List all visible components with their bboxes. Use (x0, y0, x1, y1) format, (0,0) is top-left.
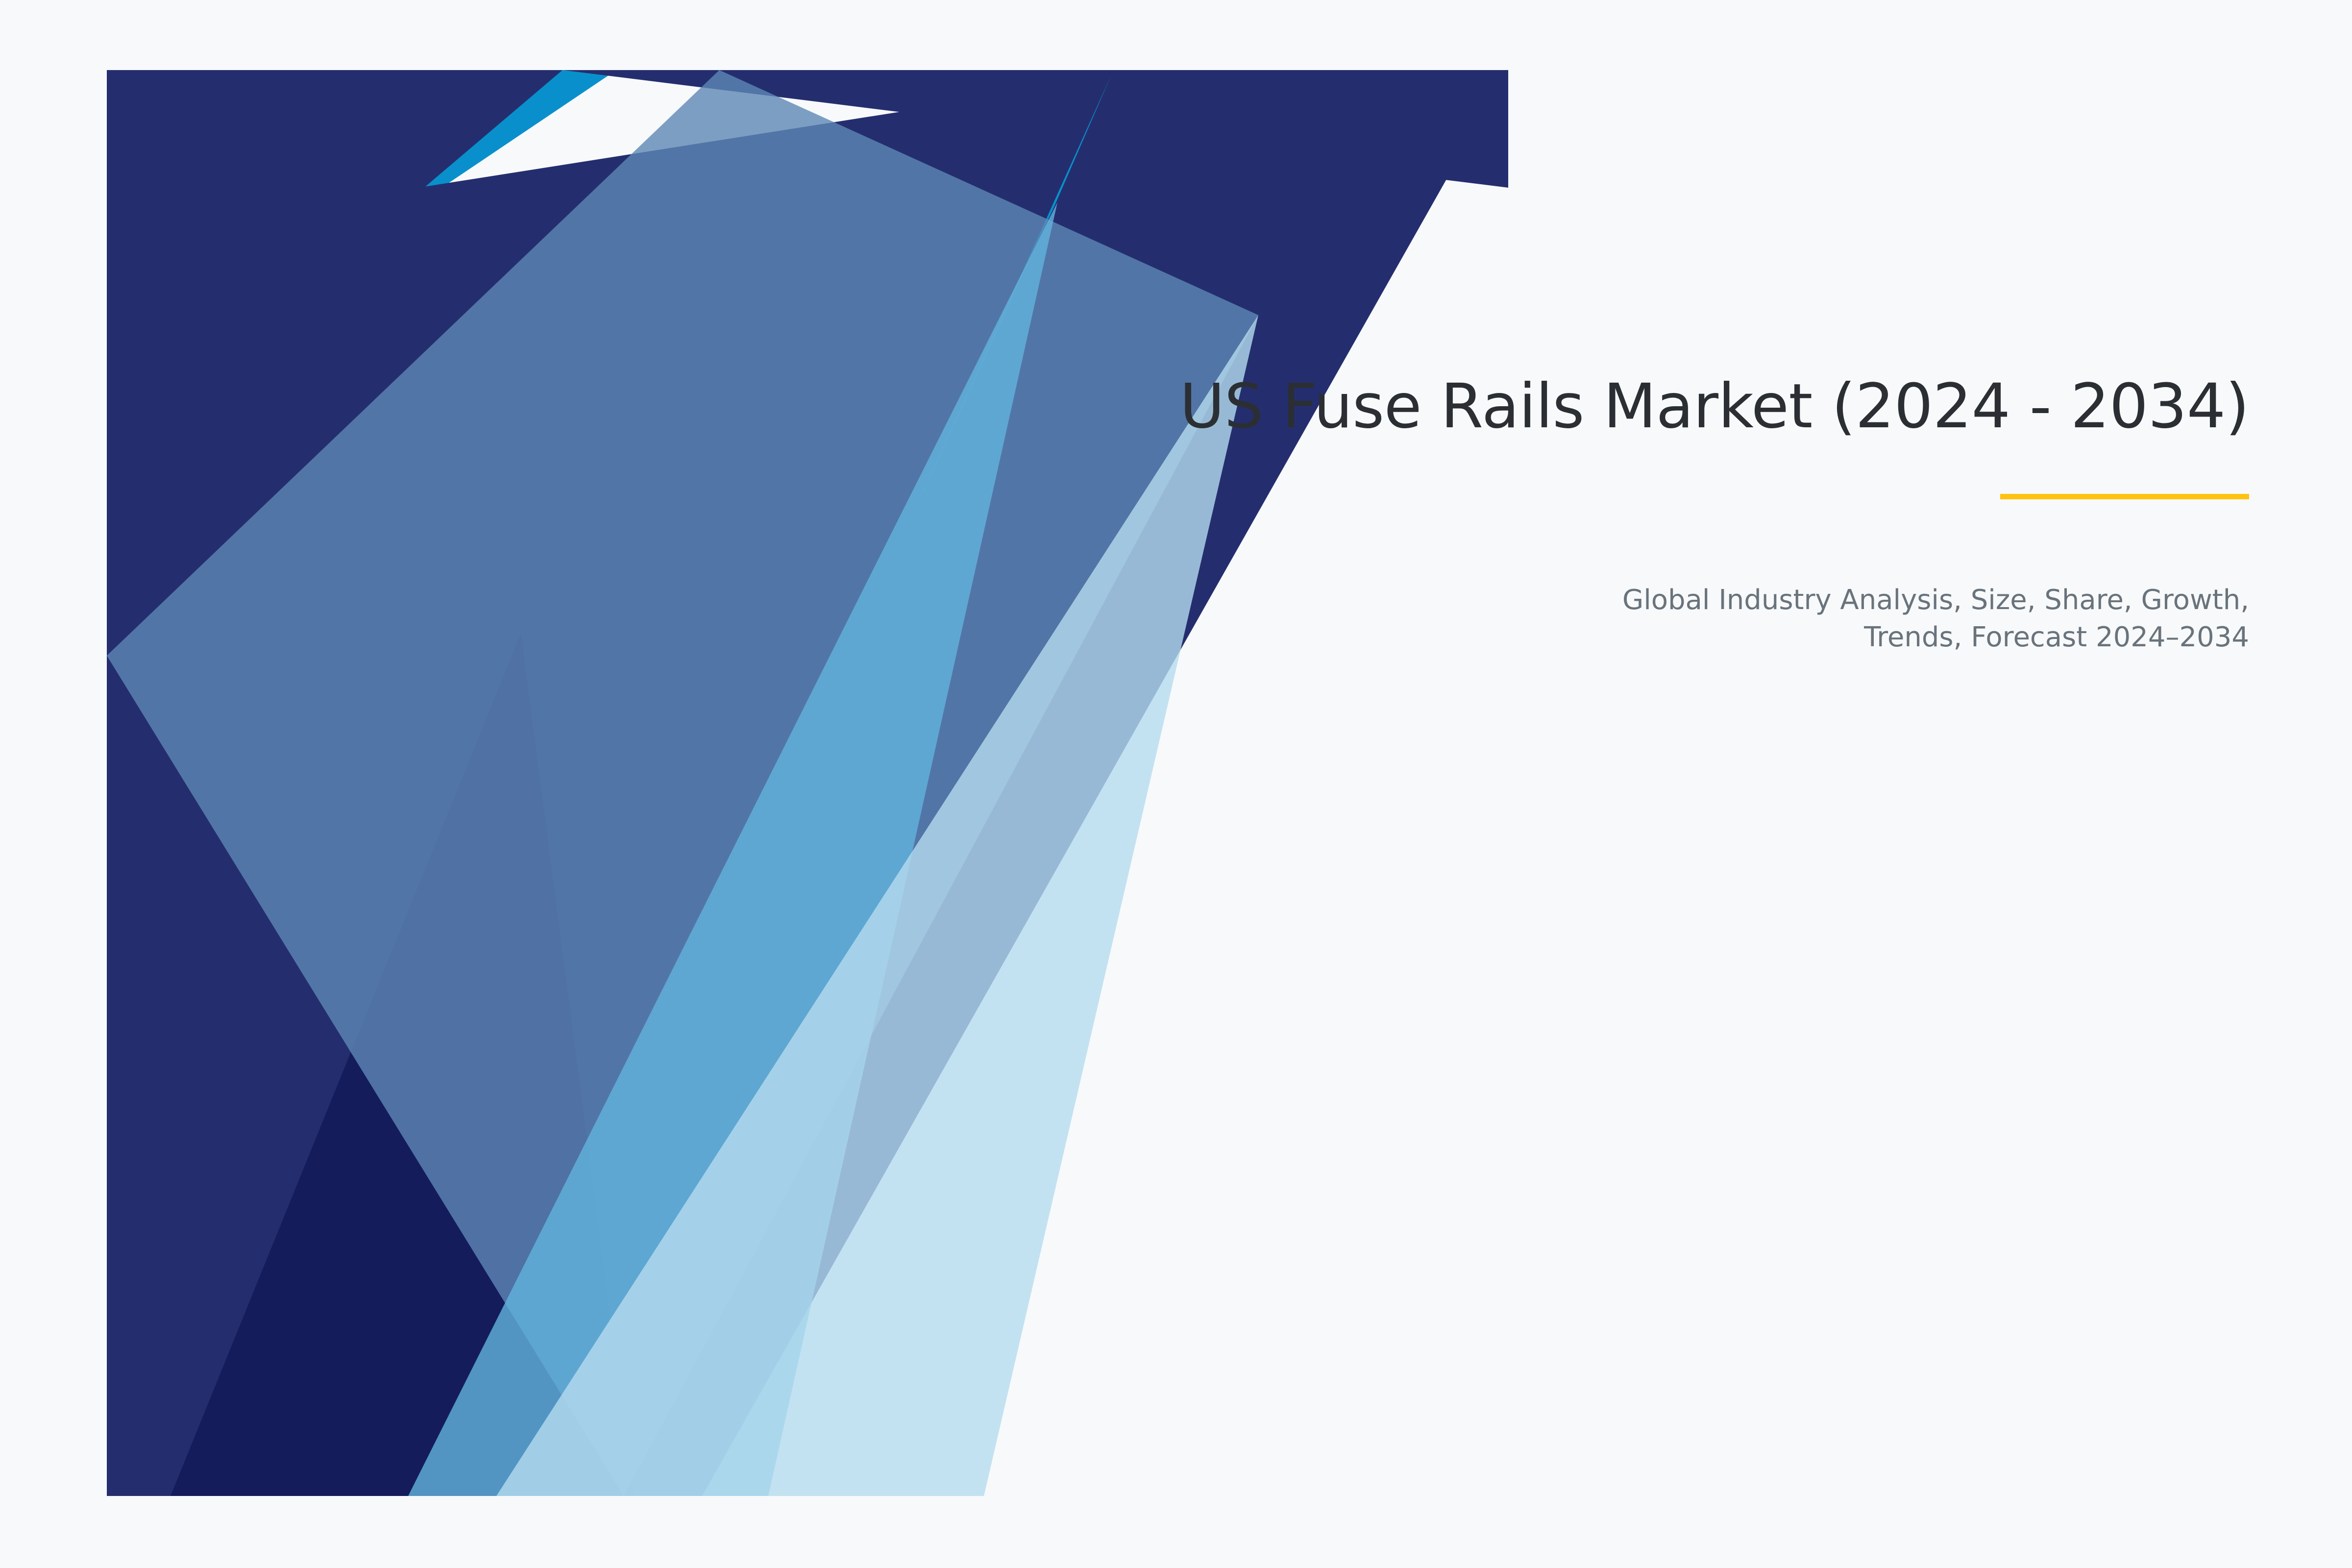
abstract-geometric-artwork (107, 70, 1508, 1496)
page-title: US Fuse Rails Market (2024 - 2034) (931, 372, 2249, 441)
page-subtitle: Global Industry Analysis, Size, Share, G… (1617, 582, 2249, 656)
cover-text-block: US Fuse Rails Market (2024 - 2034) Globa… (931, 372, 2249, 656)
artwork-svg (107, 70, 1508, 1496)
accent-rule-container (931, 494, 2249, 499)
accent-rule (2000, 494, 2249, 499)
report-cover: US Fuse Rails Market (2024 - 2034) Globa… (0, 0, 2352, 1568)
